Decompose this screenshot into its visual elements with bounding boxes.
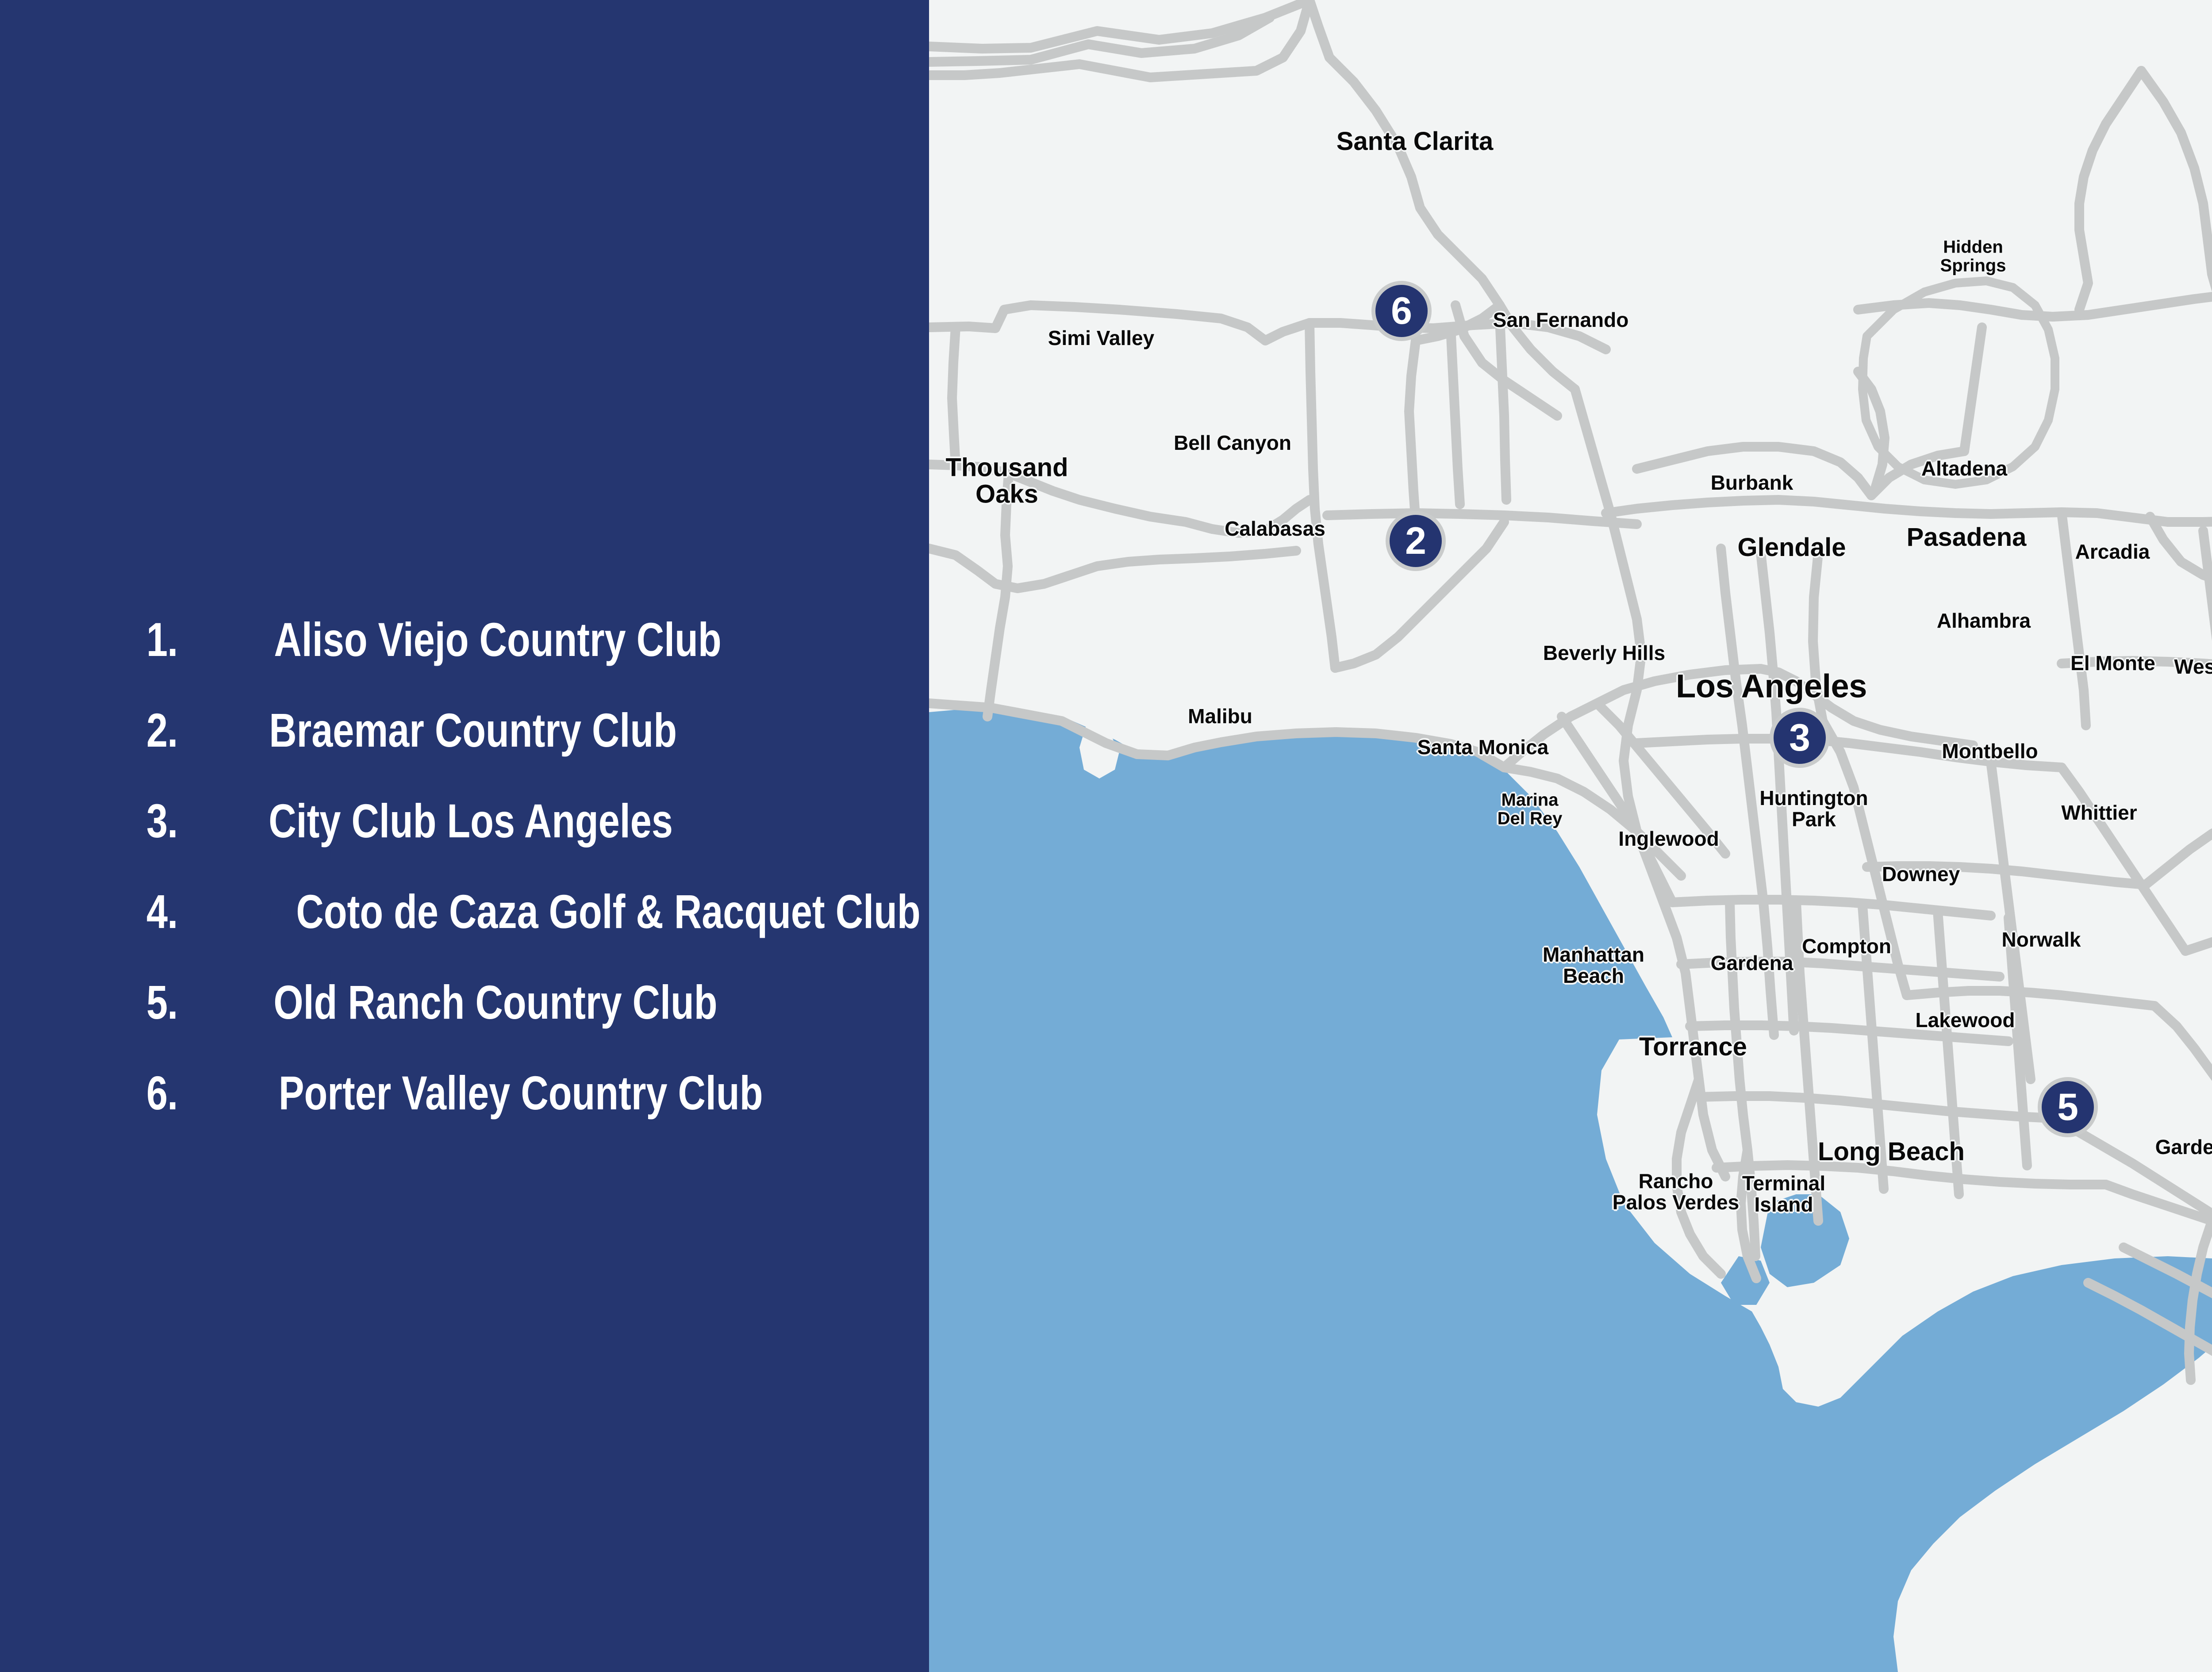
map-page: 1. Aliso Viejo Country Club 2. Braemar C… (0, 0, 2212, 1672)
list-item-number: 2. (146, 706, 210, 754)
list-item-label: Old Ranch Country Club (273, 978, 717, 1026)
list-item[interactable]: 1. Aliso Viejo Country Club (0, 616, 929, 706)
list-item[interactable]: 4. Coto de Caza Golf & Racquet Club (0, 888, 929, 978)
list-item[interactable]: 5. Old Ranch Country Club (0, 978, 929, 1069)
map-geometry (929, 0, 2212, 1672)
list-item-number: 3. (146, 797, 210, 845)
map-canvas[interactable]: Santa ClaritaParadise SpringsWrightwoodH… (929, 0, 2212, 1672)
list-item[interactable]: 2. Braemar Country Club (0, 706, 929, 797)
list-item-label: Aliso Viejo Country Club (274, 616, 721, 663)
list-item-number: 5. (146, 978, 210, 1026)
list-item-label: City Club Los Angeles (269, 797, 673, 845)
club-list: 1. Aliso Viejo Country Club 2. Braemar C… (0, 616, 929, 1160)
club-list-sidebar: 1. Aliso Viejo Country Club 2. Braemar C… (0, 0, 929, 1672)
map-marker-6[interactable]: 6 (1371, 281, 1432, 341)
list-item-label: Porter Valley Country Club (279, 1069, 763, 1117)
map-marker-2[interactable]: 2 (1386, 511, 1446, 571)
list-item-number: 1. (146, 616, 210, 663)
list-item[interactable]: 6. Porter Valley Country Club (0, 1069, 929, 1160)
list-item-label: Coto de Caza Golf & Racquet Club (296, 888, 920, 936)
map-marker-5[interactable]: 5 (2038, 1077, 2098, 1137)
map-marker-3[interactable]: 3 (1770, 708, 1830, 768)
list-item-label: Braemar Country Club (269, 706, 677, 754)
list-item[interactable]: 3. City Club Los Angeles (0, 797, 929, 888)
list-item-number: 4. (146, 888, 210, 936)
list-item-number: 6. (146, 1069, 210, 1117)
